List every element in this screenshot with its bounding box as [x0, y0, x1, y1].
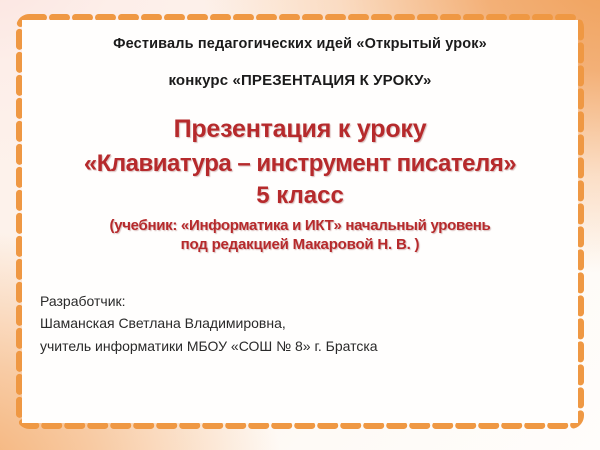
header-contest-line: конкурс «ПРЕЗЕНТАЦИЯ К УРОКУ»	[22, 73, 578, 90]
title-textbook-line-1: (учебник: «Информатика и ИКТ» начальный …	[22, 217, 578, 236]
slide-header: Фестиваль педагогических идей «Открытый …	[22, 20, 578, 89]
slide-title-block: Презентация к уроку «Клавиатура – инстру…	[22, 115, 578, 254]
title-grade-line: 5 класс	[22, 182, 578, 211]
author-name: Шаманская Светлана Владимировна,	[40, 312, 578, 335]
presentation-title-slide: Фестиваль педагогических идей «Открытый …	[0, 0, 600, 450]
author-affiliation: учитель информатики МБОУ «СОШ № 8» г. Бр…	[40, 335, 578, 358]
title-textbook-line-2: под редакцией Макаровой Н. В. )	[22, 236, 578, 255]
page-title: Презентация к уроку	[22, 115, 578, 145]
header-festival-line: Фестиваль педагогических идей «Открытый …	[22, 37, 578, 53]
slide-content: Фестиваль педагогических идей «Открытый …	[22, 20, 578, 423]
author-label: Разработчик:	[40, 290, 578, 313]
slide-author-block: Разработчик: Шаманская Светлана Владимир…	[22, 290, 578, 358]
title-topic-line: «Клавиатура – инструмент писателя»	[22, 149, 578, 178]
